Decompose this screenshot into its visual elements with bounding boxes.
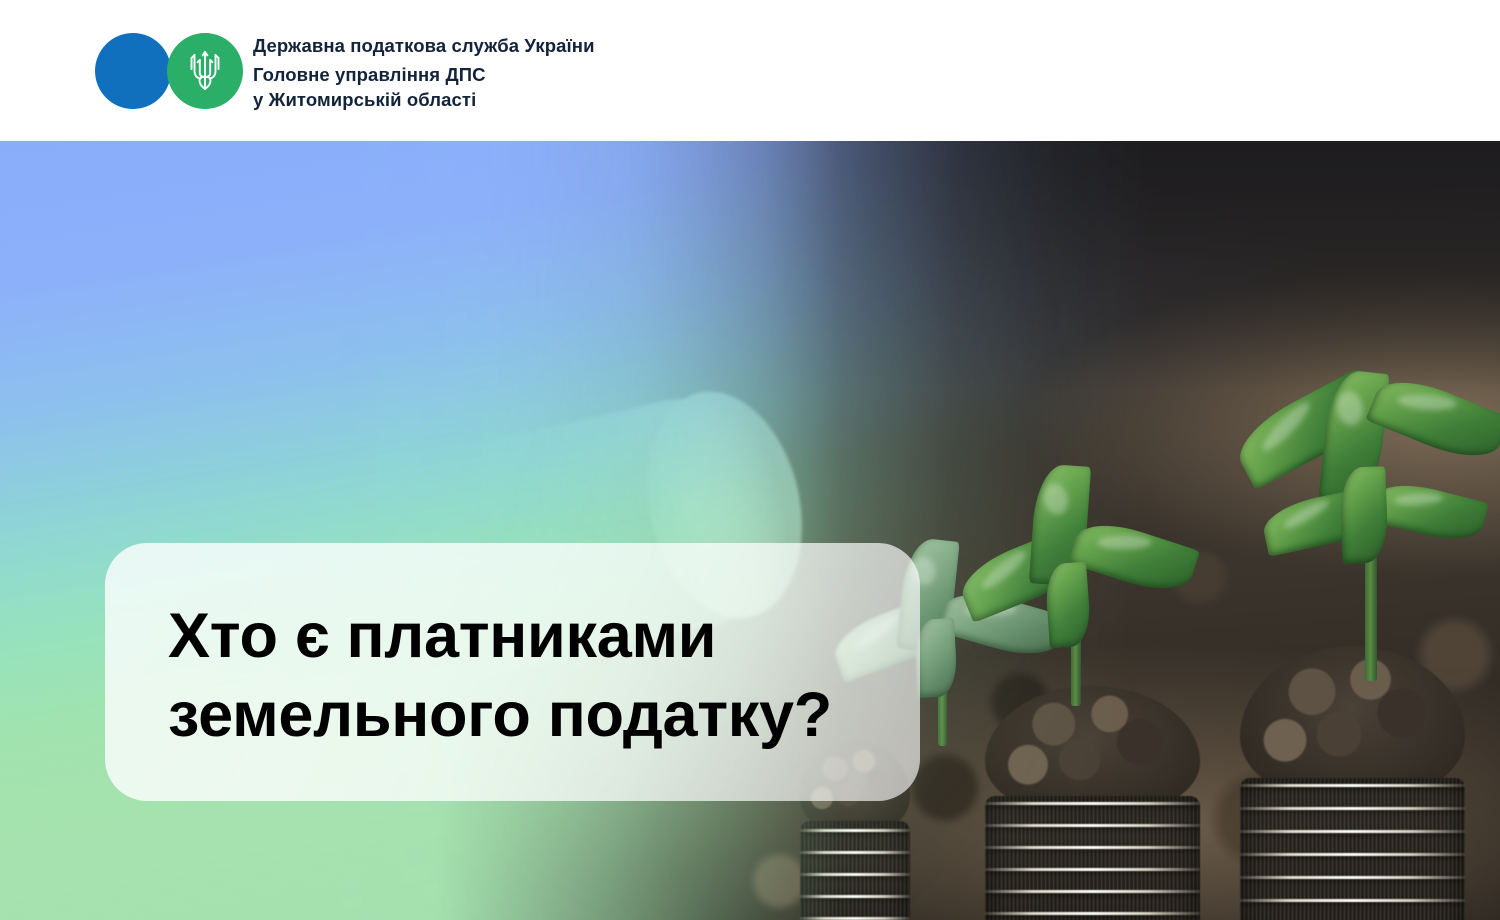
site-header: Державна податкова служба України Головн… xyxy=(0,0,1500,141)
ukraine-trident-icon xyxy=(188,49,222,93)
page-title-line-1: Хто є платниками xyxy=(168,597,888,676)
poster-page: Державна податкова служба України Головн… xyxy=(0,0,1500,920)
gradient-overlay-blend xyxy=(0,141,1500,920)
dps-logo[interactable] xyxy=(95,33,240,109)
org-name-block: Державна податкова служба України Головн… xyxy=(253,33,595,112)
title-card: Хто є платниками земельного податку? xyxy=(105,543,920,801)
org-line-2: Головне управління ДПС xyxy=(253,62,595,87)
org-line-3: у Житомирській області xyxy=(253,87,595,112)
page-title: Хто є платниками земельного податку? xyxy=(168,597,888,755)
hero-photo xyxy=(0,141,1500,920)
page-title-line-2: земельного податку? xyxy=(168,676,888,755)
logo-blue-circle-icon xyxy=(95,33,171,109)
org-line-1: Державна податкова служба України xyxy=(253,33,595,58)
